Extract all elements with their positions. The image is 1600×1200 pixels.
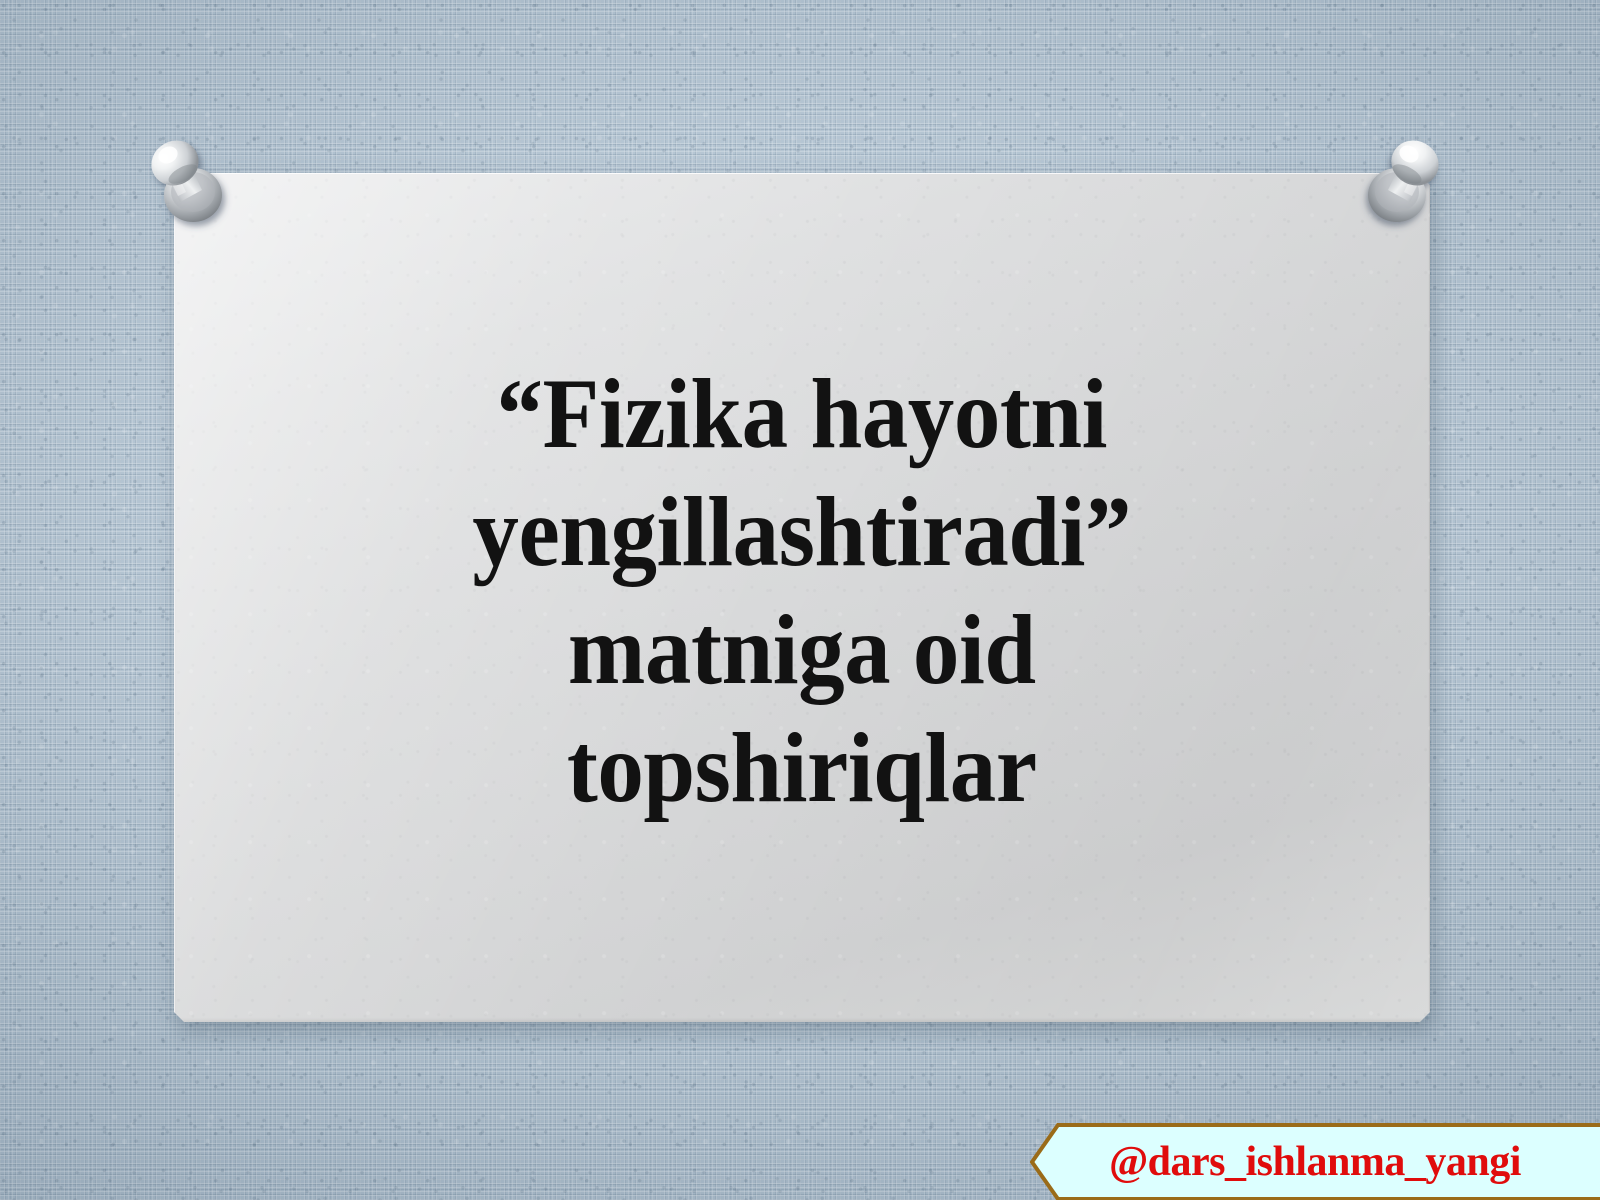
paper-sheet [174,173,1430,1022]
paper-grain-texture [174,173,1430,1022]
slide-canvas: “Fizika hayotni yengillashtiradi” matnig… [0,0,1600,1200]
channel-handle-banner[interactable]: @dars_ishlanma_yangi [1030,1123,1600,1200]
channel-handle-label: @dars_ishlanma_yangi [1030,1123,1600,1200]
paper-sheen-overlay [174,173,1430,1022]
